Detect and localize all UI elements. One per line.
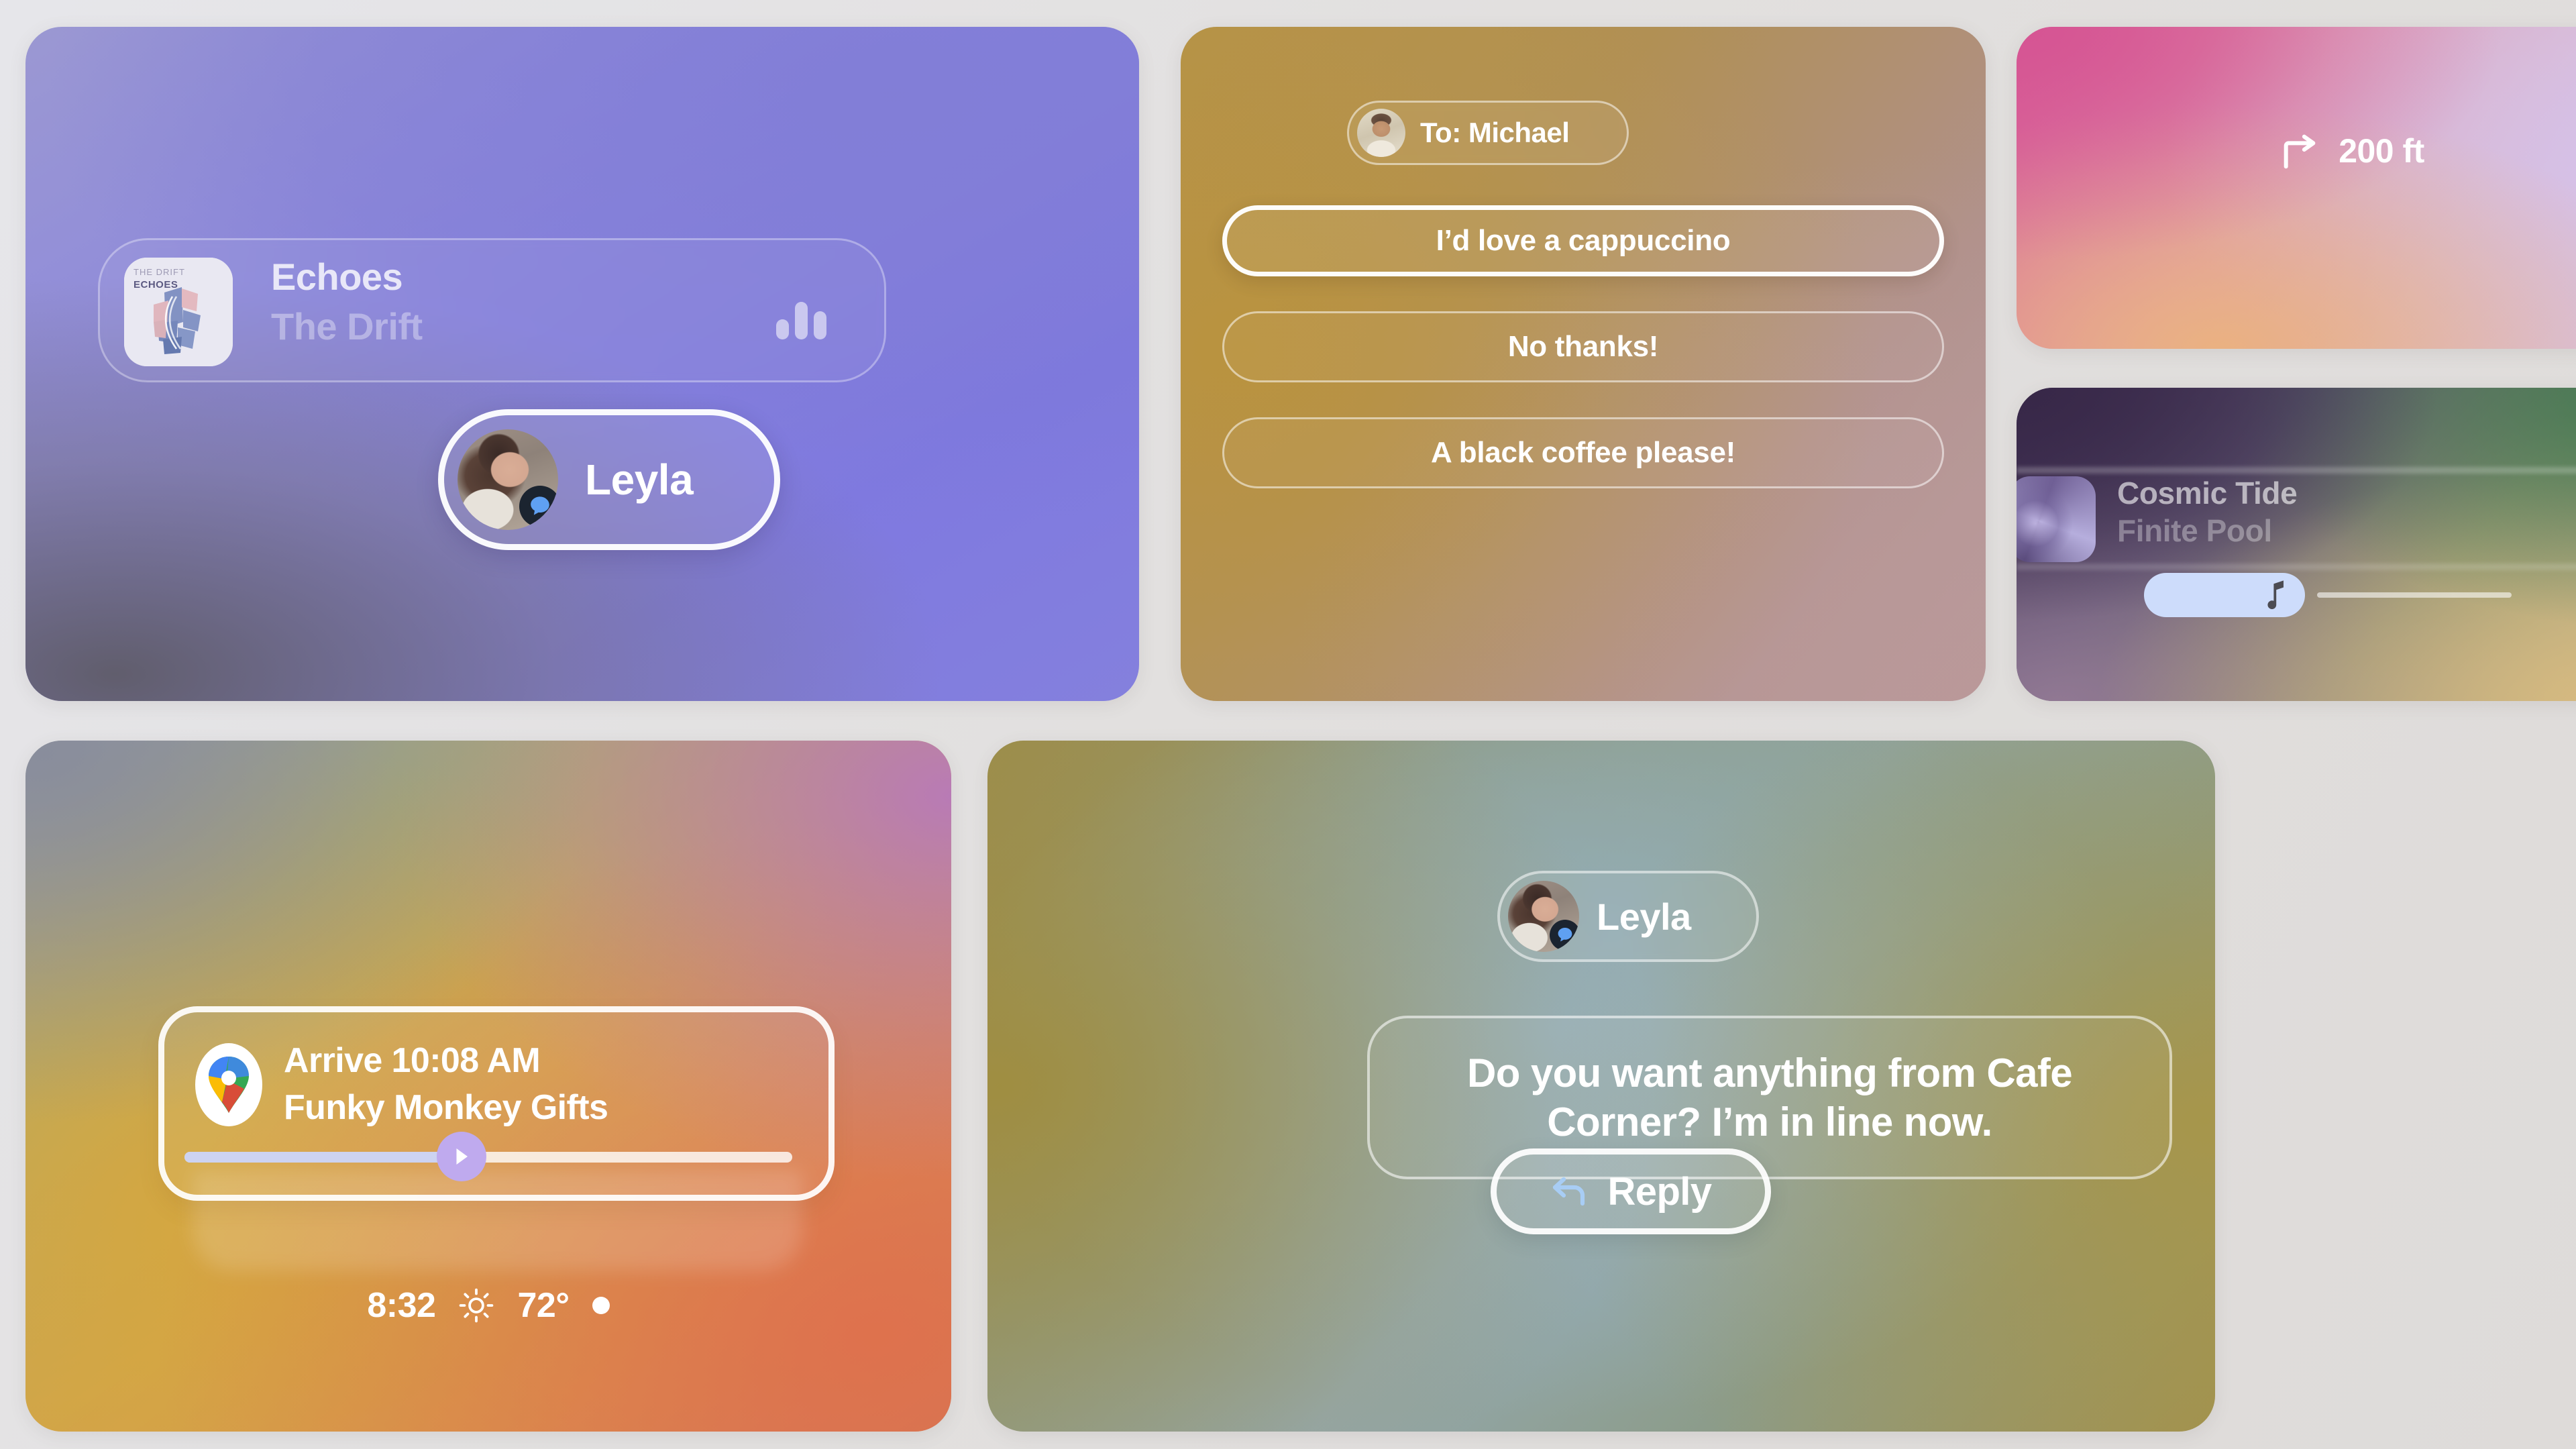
- contact-pill-leyla[interactable]: Leyla: [438, 409, 780, 550]
- sheen-top: [2017, 467, 2576, 474]
- status-temperature: 72°: [517, 1285, 569, 1326]
- message-bubble-glyph: [1555, 925, 1575, 945]
- sheen-bottom: [2017, 563, 2576, 570]
- navigation-distance: 200 ft: [2339, 131, 2424, 170]
- album-art: THE DRIFT ECHOES: [124, 258, 233, 366]
- sender-pill-leyla[interactable]: Leyla: [1497, 871, 1759, 962]
- card-background-navigation: [2017, 27, 2576, 349]
- reply-button[interactable]: Reply: [1491, 1148, 1771, 1234]
- reply-option-3[interactable]: A black coffee please!: [1222, 417, 1944, 488]
- trip-progress-thumb[interactable]: [437, 1132, 486, 1181]
- recipient-label: To: Michael: [1420, 117, 1569, 149]
- card-now-playing[interactable]: THE DRIFT ECHOES Echoes The Drift Leyla: [25, 27, 1139, 701]
- album-art-artist-label: THE DRIFT: [133, 267, 185, 277]
- message-bubble-icon: [519, 486, 558, 527]
- reply-arrow-icon: [1550, 1174, 1591, 1209]
- card-navigation[interactable]: 200 ft: [2017, 27, 2576, 349]
- leyla-avatar: [1508, 881, 1579, 952]
- message-bubble-icon: [1550, 920, 1579, 951]
- google-maps-pin-icon: [195, 1043, 262, 1130]
- trip-panel[interactable]: Arrive 10:08 AM Funky Monkey Gifts: [158, 1006, 835, 1201]
- leyla-avatar: [458, 429, 558, 530]
- contact-name: Leyla: [585, 455, 693, 504]
- navigation-instruction: 200 ft: [2017, 131, 2576, 170]
- status-dot: [592, 1297, 610, 1314]
- now-playing-bar[interactable]: THE DRIFT ECHOES Echoes The Drift: [98, 238, 886, 382]
- reply-option-2[interactable]: No thanks!: [1222, 311, 1944, 382]
- sender-name: Leyla: [1597, 895, 1691, 938]
- message-bubble[interactable]: Do you want anything from Cafe Corner? I…: [1367, 1016, 2172, 1179]
- mini-play-pill[interactable]: [2144, 573, 2305, 617]
- trip-status-bar: 8:32 72°: [25, 1285, 951, 1326]
- card-quick-reply[interactable]: To: Michael I’d love a cappuccino No tha…: [1181, 27, 1986, 701]
- trip-progress-fill: [184, 1152, 478, 1163]
- mini-track-title: Cosmic Tide: [2117, 475, 2297, 511]
- equalizer-icon: [776, 302, 826, 339]
- reply-button-label: Reply: [1608, 1169, 1712, 1214]
- album-art-title-label: ECHOES: [133, 279, 178, 290]
- widget-board: THE DRIFT ECHOES Echoes The Drift Leyla: [0, 0, 2576, 1449]
- trip-destination: Funky Monkey Gifts: [284, 1087, 608, 1128]
- reply-option-1-label: I’d love a cappuccino: [1436, 224, 1731, 258]
- reply-option-1[interactable]: I’d love a cappuccino: [1222, 205, 1944, 276]
- reply-option-2-label: No thanks!: [1508, 330, 1658, 364]
- michael-avatar: [1357, 109, 1405, 157]
- trip-progress-track[interactable]: [184, 1152, 792, 1163]
- sun-icon: [458, 1287, 494, 1324]
- navigate-arrow-icon: [449, 1144, 474, 1169]
- card-message[interactable]: Leyla Do you want anything from Cafe Cor…: [987, 741, 2215, 1432]
- message-bubble-glyph: [527, 493, 553, 520]
- status-time: 8:32: [367, 1285, 435, 1326]
- card-now-playing-mini[interactable]: Cosmic Tide Finite Pool: [2017, 388, 2576, 701]
- mini-album-art: [2017, 476, 2096, 562]
- turn-right-icon: [2279, 132, 2321, 170]
- music-note-icon: [2261, 578, 2289, 612]
- card-background-music-mini: [2017, 388, 2576, 701]
- recipient-pill[interactable]: To: Michael: [1347, 101, 1629, 165]
- track-artist: The Drift: [271, 305, 423, 348]
- reply-option-3-label: A black coffee please!: [1431, 436, 1735, 470]
- mini-track-artist: Finite Pool: [2117, 513, 2272, 549]
- mini-progress-track[interactable]: [2317, 592, 2512, 598]
- track-title: Echoes: [271, 255, 402, 299]
- card-trip[interactable]: Arrive 10:08 AM Funky Monkey Gifts 8:32: [25, 741, 951, 1432]
- trip-eta: Arrive 10:08 AM: [284, 1040, 540, 1081]
- message-body: Do you want anything from Cafe Corner? I…: [1405, 1049, 2135, 1146]
